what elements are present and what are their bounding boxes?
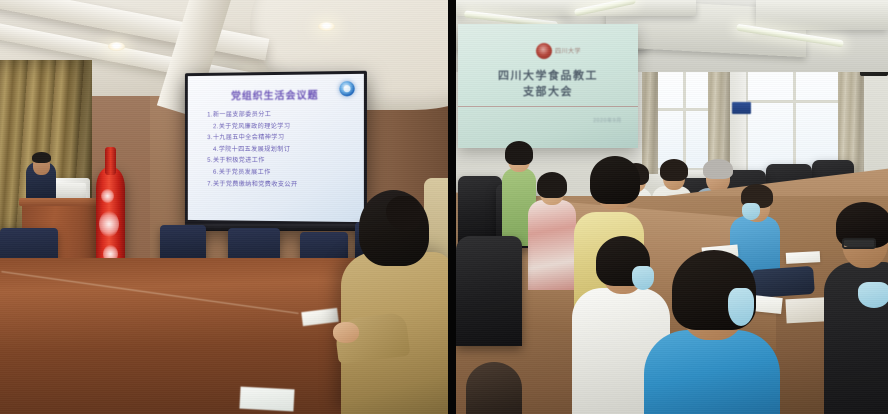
face-mask — [728, 288, 754, 326]
left-projection-screen-frame: 党组织生活会议题 1.新一届支部委员分工 2.关于党风廉政的理论学习 3.十九届… — [185, 71, 367, 230]
foreground-attendee-hand — [333, 322, 359, 343]
office-chair — [456, 236, 522, 346]
foreground-attendee-head — [466, 362, 522, 414]
agenda-item: 4.学院十四五发展规划制订 — [207, 144, 356, 156]
attendee-hair — [537, 172, 567, 198]
university-name-text: 四川大学 — [555, 46, 581, 55]
right-photo-panel: 四川大学 四川大学食品教工 支部大会 2020年9月 — [456, 0, 888, 414]
vase-floral-pattern — [99, 211, 119, 237]
agenda-item: 3.十九届五中全会精神学习 — [207, 132, 356, 144]
vase-floral-pattern — [101, 189, 114, 203]
face-mask — [632, 266, 654, 290]
foreground-attendee-hair-front — [386, 196, 420, 230]
window-mullion — [683, 60, 686, 168]
foreground-attendee-body — [644, 330, 780, 414]
eyeglasses-icon — [842, 238, 876, 249]
agenda-item: 5.关于积极党进工作 — [207, 155, 356, 167]
agenda-item: 1.新一届支部委员分工 — [207, 108, 356, 121]
face-mask — [858, 282, 888, 308]
slide-date-text: 2020年9月 — [458, 117, 622, 124]
speaker-hair — [505, 141, 533, 165]
photo-composite: 党组织生活会议题 1.新一届支部委员分工 2.关于党风廉政的理论学习 3.十九届… — [0, 0, 888, 414]
window-mullion — [748, 100, 840, 103]
left-slide-agenda-list: 1.新一届支部委员分工 2.关于党风廉政的理论学习 3.十九届五中全会精神学习 … — [207, 108, 356, 190]
photo-divider — [448, 0, 456, 414]
left-projection-screen: 党组织生活会议题 1.新一届支部委员分工 2.关于党风廉政的理论学习 3.十九届… — [188, 74, 364, 222]
downlight-icon — [108, 42, 125, 51]
slide-title-line-2: 支部大会 — [458, 84, 638, 100]
presenter-hair — [32, 152, 51, 163]
attendee-hair — [590, 156, 640, 204]
university-crest-icon — [536, 43, 552, 59]
wall-sign — [732, 102, 751, 114]
paper-sheet — [239, 387, 294, 412]
ceiling-duct — [756, 0, 888, 30]
paper-sheet — [786, 251, 821, 264]
left-slide-title: 党组织生活会议题 — [188, 86, 364, 103]
right-slide-title: 四川大学食品教工 支部大会 — [458, 68, 638, 100]
attendee-body — [528, 200, 576, 290]
slide-title-line-1: 四川大学食品教工 — [458, 68, 638, 84]
right-projection-screen: 四川大学 四川大学食品教工 支部大会 2020年9月 — [458, 24, 638, 148]
face-mask — [742, 203, 760, 220]
laptop-bag — [751, 266, 815, 298]
slide-divider-line — [458, 106, 638, 107]
window-mullion — [656, 108, 710, 111]
attendee-hair — [703, 159, 733, 179]
left-photo-panel: 党组织生活会议题 1.新一届支部委员分工 2.关于党风廉政的理论学习 3.十九届… — [0, 0, 448, 414]
classroom-window — [654, 58, 712, 170]
downlight-icon — [318, 22, 335, 31]
agenda-item: 6.关于党员发展工作 — [207, 167, 356, 179]
attendee-hair — [660, 159, 688, 181]
agenda-item: 7.关于党费缴纳和党费收支公开 — [207, 178, 356, 191]
agenda-item: 2.关于党风廉政的理论学习 — [207, 120, 356, 132]
